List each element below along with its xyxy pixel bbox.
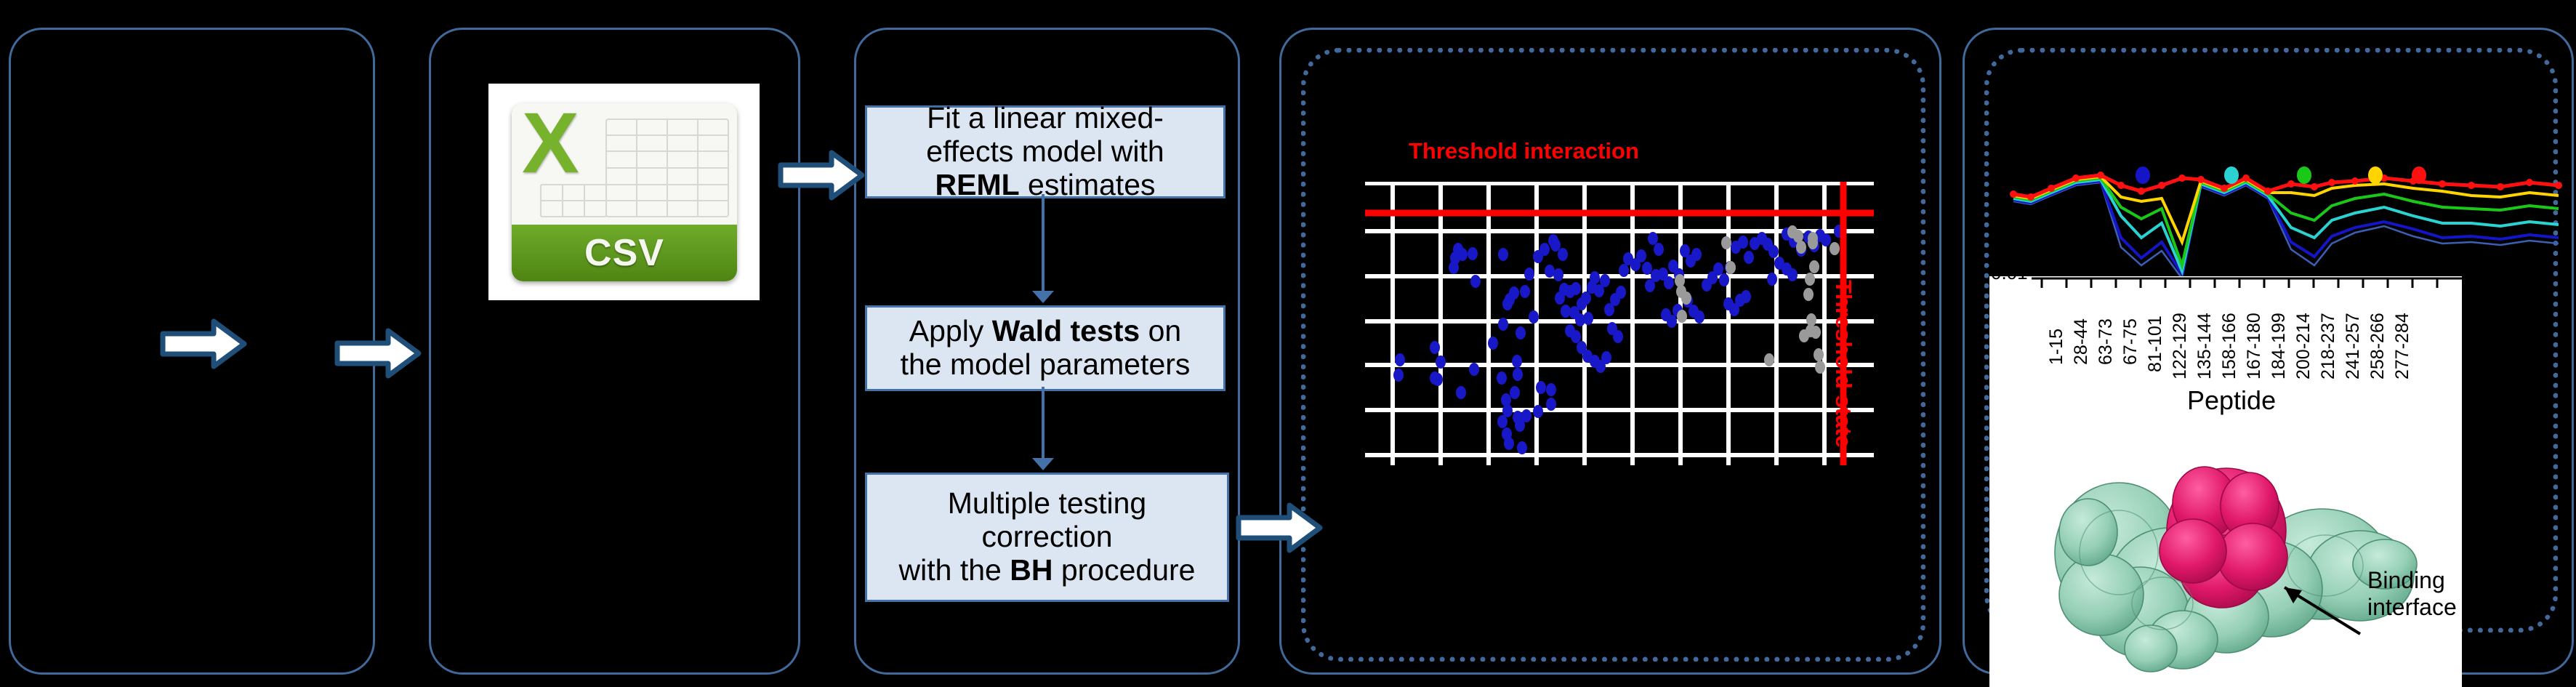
- wald-line-2: the model parameters: [901, 347, 1191, 381]
- binding-interface-line-1: Binding: [2367, 567, 2457, 594]
- process-box-fit-model[interactable]: Fit a linear mixed- effects model with R…: [865, 105, 1225, 198]
- arrow-to-stats: [778, 149, 865, 201]
- peptide-tick-14: 277-284: [2392, 313, 2413, 379]
- peptide-tick-9: 184-199: [2269, 313, 2290, 379]
- structure-figure-panel: 0.01 1-15 28-44 63-73 67-75 81-101 122-1…: [1989, 276, 2462, 687]
- process-text-bh-correction: Multiple testing correction with the BH …: [867, 487, 1227, 587]
- peptide-tick-2: 63-73: [2096, 318, 2117, 365]
- legend-dot-4: [2368, 166, 2383, 184]
- protein-structure-image: [2032, 422, 2439, 676]
- connector-arrowhead-bh: [1032, 458, 1054, 470]
- fit-model-line-1: Fit a linear mixed-: [927, 101, 1164, 134]
- legend-dot-2: [2224, 166, 2239, 184]
- legend-dot-5: [2412, 166, 2426, 184]
- bh-line-1: Multiple testing: [948, 486, 1146, 520]
- binding-interface-annotation: Binding interface: [2367, 567, 2457, 621]
- peptide-line-chart: [2006, 156, 2573, 280]
- process-text-fit-model: Fit a linear mixed- effects model with R…: [867, 102, 1223, 202]
- csv-label-band: CSV: [512, 225, 737, 281]
- arrow-to-source: [160, 318, 247, 370]
- csv-label-text: CSV: [584, 231, 664, 275]
- peptide-tick-0: 1-15: [2046, 329, 2067, 365]
- legend-dot-3: [2297, 166, 2311, 184]
- x-axis-title: Peptide: [2187, 385, 2276, 416]
- arrow-to-csv: [334, 327, 422, 379]
- peptide-tick-11: 218-237: [2318, 313, 2339, 379]
- bh-line-2: correction: [981, 520, 1112, 553]
- peptide-tick-5: 122-129: [2170, 313, 2191, 379]
- fit-model-line-2: effects model with: [926, 134, 1164, 168]
- threshold-interaction-label: Threshold interaction: [1409, 138, 1639, 164]
- x-axis: [1989, 276, 2462, 298]
- binding-interface-line-2: interface: [2367, 594, 2457, 621]
- excel-x-glyph: X: [522, 103, 579, 186]
- peptide-tick-1: 28-44: [2071, 318, 2092, 365]
- process-box-bh-correction[interactable]: Multiple testing correction with the BH …: [865, 473, 1229, 602]
- arrow-to-results: [1236, 502, 1323, 554]
- peptide-tick-3: 67-75: [2120, 318, 2141, 365]
- bh-line-3a: with the: [899, 553, 1010, 587]
- process-box-wald-tests[interactable]: Apply Wald tests on the model parameters: [865, 305, 1225, 391]
- fit-model-reml: REML: [935, 168, 1020, 201]
- wald-apply: Apply: [909, 314, 992, 347]
- peptide-tick-13: 258-266: [2367, 313, 2388, 379]
- wald-on: on: [1140, 314, 1181, 347]
- peptide-tick-8: 167-180: [2244, 313, 2265, 379]
- peptide-tick-12: 241-257: [2343, 313, 2364, 379]
- peptide-tick-4: 81-101: [2145, 316, 2166, 372]
- wald-bold: Wald tests: [992, 314, 1140, 347]
- connector-fit-to-wald: [1042, 194, 1045, 292]
- threshold-state-label: Threshold state: [1830, 280, 1856, 448]
- process-text-wald-tests: Apply Wald tests on the model parameters: [867, 315, 1223, 382]
- fit-model-estimates: estimates: [1020, 168, 1156, 201]
- connector-wald-to-bh: [1042, 387, 1045, 459]
- peptide-tick-6: 135-144: [2194, 313, 2215, 379]
- flow-diagram-canvas: X CSV Fit a linear mixed- effects model …: [0, 0, 2576, 687]
- threshold-scatter-plot: [1365, 182, 1874, 465]
- legend-dot-1: [2136, 166, 2150, 184]
- bh-line-3b: procedure: [1052, 553, 1195, 587]
- connector-arrowhead-wald: [1032, 291, 1054, 303]
- bh-bold: BH: [1010, 553, 1052, 587]
- scatter-canvas: [1365, 182, 1874, 465]
- csv-file-icon[interactable]: X CSV: [512, 103, 737, 281]
- peptide-tick-7: 158-166: [2219, 313, 2240, 379]
- peptide-tick-10: 200-214: [2293, 313, 2314, 379]
